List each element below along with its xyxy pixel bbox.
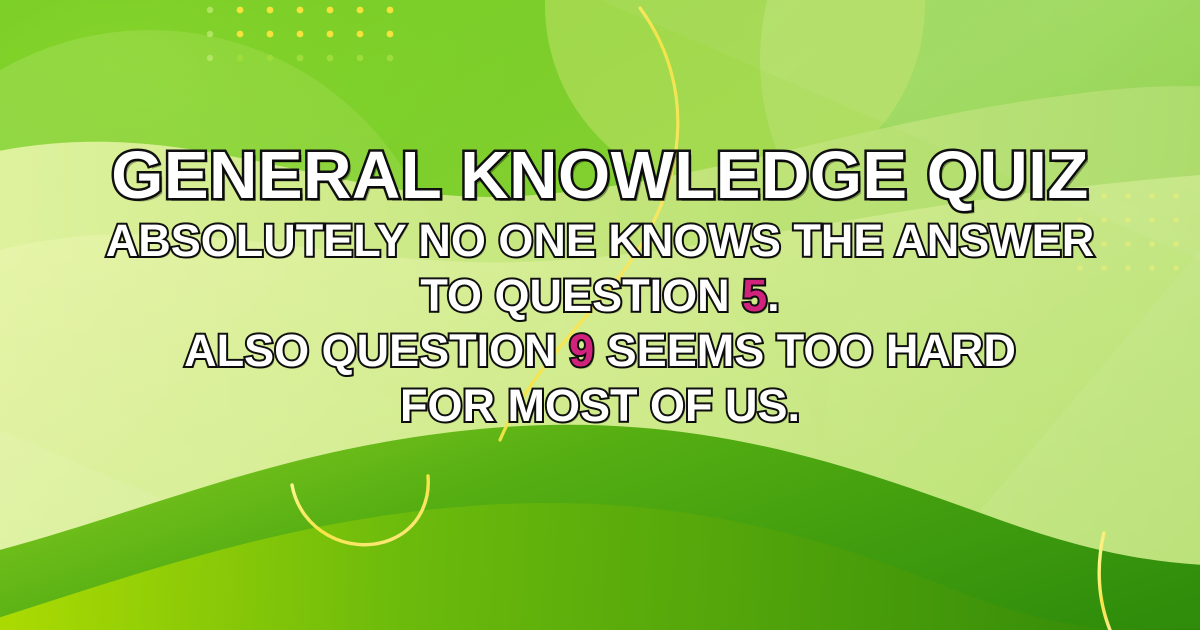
body-line-1-text: ABSOLUTELY NO ONE KNOWS THE ANSWER bbox=[106, 215, 1094, 266]
body-line-3-before: ALSO QUESTION bbox=[184, 325, 569, 376]
quiz-poster: GENERAL KNOWLEDGE QUIZ ABSOLUTELY NO ONE… bbox=[0, 0, 1200, 630]
body-line-4: FOR MOST OF US. bbox=[400, 379, 800, 434]
body-line-1: ABSOLUTELY NO ONE KNOWS THE ANSWER bbox=[106, 214, 1094, 269]
highlight-number-9: 9 bbox=[569, 325, 594, 376]
body-line-3-after: SEEMS TOO HARD bbox=[594, 325, 1016, 376]
body-line-2-after: . bbox=[767, 270, 780, 321]
body-line-4-text: FOR MOST OF US. bbox=[400, 380, 800, 431]
body-line-2-before: TO QUESTION bbox=[420, 270, 742, 321]
body-line-2: TO QUESTION 5. bbox=[420, 269, 779, 324]
body-line-3: ALSO QUESTION 9 SEEMS TOO HARD bbox=[184, 324, 1016, 379]
page-title: GENERAL KNOWLEDGE QUIZ bbox=[111, 142, 1089, 210]
poster-body: ABSOLUTELY NO ONE KNOWS THE ANSWER TO QU… bbox=[106, 214, 1094, 434]
poster-text-layer: GENERAL KNOWLEDGE QUIZ ABSOLUTELY NO ONE… bbox=[0, 0, 1200, 630]
highlight-number-5: 5 bbox=[742, 270, 767, 321]
